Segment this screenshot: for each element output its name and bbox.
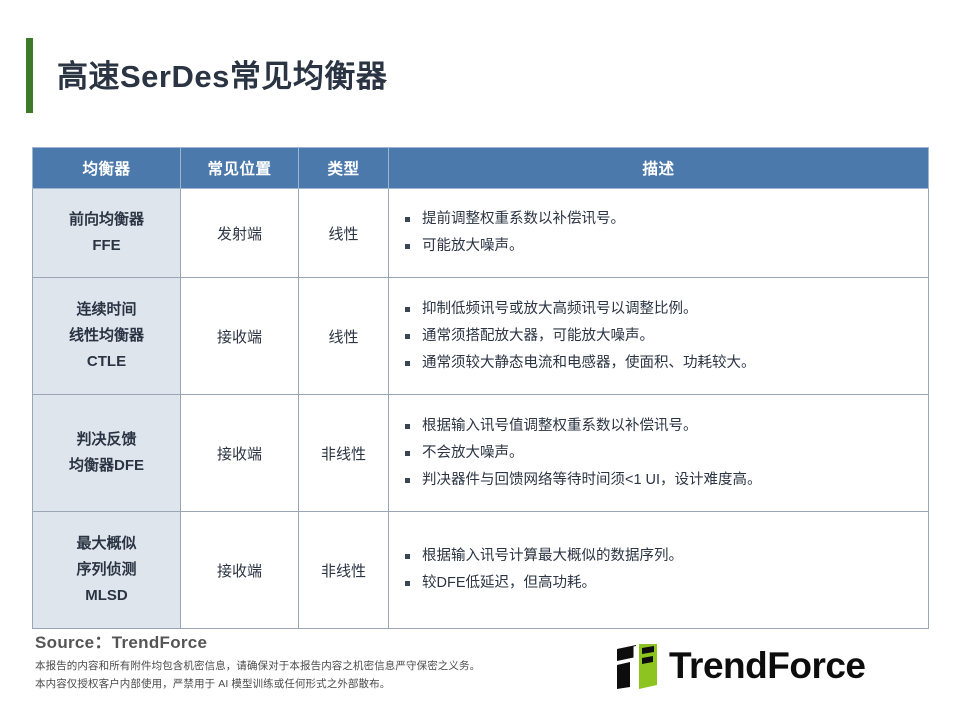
description-list: 提前调整权重系数以补偿讯号。 可能放大噪声。 [403, 206, 918, 260]
bullet-square-icon [405, 244, 410, 249]
list-item-text: 根据输入讯号值调整权重系数以补偿讯号。 [422, 418, 698, 434]
list-item: 通常须搭配放大器，可能放大噪声。 [403, 323, 918, 350]
bullet-square-icon [405, 334, 410, 339]
name-line: 序列侦测 [37, 557, 176, 583]
column-header-position: 常见位置 [181, 148, 299, 189]
description-list: 根据输入讯号计算最大概似的数据序列。 较DFE低延迟，但高功耗。 [403, 543, 918, 597]
bullet-square-icon [405, 424, 410, 429]
list-item: 提前调整权重系数以补偿讯号。 [403, 206, 918, 233]
disclaimer-line-1: 本报告的内容和所有附件均包含机密信息，请确保对于本报告内容之机密信息严守保密之义… [35, 658, 480, 673]
table-row: 连续时间 线性均衡器 CTLE 接收端 线性 抑制低频讯号或放大高频讯号以调整比… [33, 278, 929, 395]
description-list: 根据输入讯号值调整权重系数以补偿讯号。 不会放大噪声。 判决器件与回馈网络等待时… [403, 413, 918, 494]
cell-equalizer-name: 前向均衡器 FFE [33, 189, 181, 278]
column-header-type: 类型 [299, 148, 389, 189]
name-line: 前向均衡器 [37, 207, 176, 233]
list-item-text: 提前调整权重系数以补偿讯号。 [422, 211, 625, 227]
cell-position: 接收端 [181, 395, 299, 512]
list-item: 可能放大噪声。 [403, 233, 918, 260]
list-item-text: 通常须较大静态电流和电感器，使面积、功耗较大。 [422, 355, 756, 371]
brand-logo-wordmark: TrendForce [669, 646, 866, 686]
list-item-text: 不会放大噪声。 [422, 445, 524, 461]
list-item: 较DFE低延迟，但高功耗。 [403, 570, 918, 597]
list-item-text: 抑制低频讯号或放大高频讯号以调整比例。 [422, 301, 698, 317]
list-item: 不会放大噪声。 [403, 440, 918, 467]
name-line: 连续时间 [37, 297, 176, 323]
title-accent-bar [26, 38, 33, 113]
list-item: 根据输入讯号值调整权重系数以补偿讯号。 [403, 413, 918, 440]
page-title: 高速SerDes常见均衡器 [57, 56, 387, 98]
disclaimer-line-2: 本内容仅授权客户内部使用，严禁用于 AI 模型训练或任何形式之外部散布。 [35, 676, 390, 691]
list-item: 抑制低频讯号或放大高频讯号以调整比例。 [403, 296, 918, 323]
trendforce-logo-icon [615, 643, 659, 689]
bullet-square-icon [405, 217, 410, 222]
slide-footer: Source：TrendForce 本报告的内容和所有附件均包含机密信息，请确保… [0, 620, 960, 720]
name-line: FFE [37, 233, 176, 259]
name-line: 判决反馈 [37, 427, 176, 453]
cell-position: 发射端 [181, 189, 299, 278]
brand-logo: TrendForce [615, 642, 866, 690]
cell-type: 非线性 [299, 395, 389, 512]
source-label: Source：TrendForce [35, 628, 207, 653]
table-header-row: 均衡器 常见位置 类型 描述 [33, 148, 929, 189]
cell-type: 线性 [299, 189, 389, 278]
cell-position: 接收端 [181, 512, 299, 629]
cell-description: 根据输入讯号值调整权重系数以补偿讯号。 不会放大噪声。 判决器件与回馈网络等待时… [389, 395, 929, 512]
cell-equalizer-name: 连续时间 线性均衡器 CTLE [33, 278, 181, 395]
cell-type: 非线性 [299, 512, 389, 629]
cell-description: 根据输入讯号计算最大概似的数据序列。 较DFE低延迟，但高功耗。 [389, 512, 929, 629]
name-line: 最大概似 [37, 531, 176, 557]
column-header-description: 描述 [389, 148, 929, 189]
name-line: MLSD [37, 583, 176, 609]
table-body: 前向均衡器 FFE 发射端 线性 提前调整权重系数以补偿讯号。 可能放大噪声。 [33, 189, 929, 629]
table-header: 均衡器 常见位置 类型 描述 [33, 148, 929, 189]
list-item-text: 可能放大噪声。 [422, 238, 524, 254]
bullet-square-icon [405, 361, 410, 366]
table-row: 最大概似 序列侦测 MLSD 接收端 非线性 根据输入讯号计算最大概似的数据序列… [33, 512, 929, 629]
list-item: 判决器件与回馈网络等待时间须<1 UI，设计难度高。 [403, 467, 918, 494]
description-list: 抑制低频讯号或放大高频讯号以调整比例。 通常须搭配放大器，可能放大噪声。 通常须… [403, 296, 918, 377]
name-line: 线性均衡器 [37, 323, 176, 349]
cell-equalizer-name: 判决反馈 均衡器DFE [33, 395, 181, 512]
cell-description: 提前调整权重系数以补偿讯号。 可能放大噪声。 [389, 189, 929, 278]
name-line: 均衡器DFE [37, 453, 176, 479]
table-row: 前向均衡器 FFE 发射端 线性 提前调整权重系数以补偿讯号。 可能放大噪声。 [33, 189, 929, 278]
cell-type: 线性 [299, 278, 389, 395]
cell-description: 抑制低频讯号或放大高频讯号以调整比例。 通常须搭配放大器，可能放大噪声。 通常须… [389, 278, 929, 395]
name-line: CTLE [37, 349, 176, 375]
bullet-square-icon [405, 554, 410, 559]
cell-equalizer-name: 最大概似 序列侦测 MLSD [33, 512, 181, 629]
slide-header: 高速SerDes常见均衡器 [0, 0, 960, 140]
bullet-square-icon [405, 478, 410, 483]
cell-position: 接收端 [181, 278, 299, 395]
bullet-square-icon [405, 307, 410, 312]
bullet-square-icon [405, 451, 410, 456]
column-header-equalizer: 均衡器 [33, 148, 181, 189]
list-item-text: 较DFE低延迟，但高功耗。 [422, 575, 596, 591]
list-item-text: 判决器件与回馈网络等待时间须<1 UI，设计难度高。 [422, 472, 762, 488]
list-item: 根据输入讯号计算最大概似的数据序列。 [403, 543, 918, 570]
list-item-text: 通常须搭配放大器，可能放大噪声。 [422, 328, 654, 344]
list-item: 通常须较大静态电流和电感器，使面积、功耗较大。 [403, 350, 918, 377]
list-item-text: 根据输入讯号计算最大概似的数据序列。 [422, 548, 683, 564]
equalizer-comparison-table: 均衡器 常见位置 类型 描述 前向均衡器 FFE 发射端 线性 提前调整权重系数… [32, 147, 929, 629]
bullet-square-icon [405, 581, 410, 586]
table-row: 判决反馈 均衡器DFE 接收端 非线性 根据输入讯号值调整权重系数以补偿讯号。 … [33, 395, 929, 512]
